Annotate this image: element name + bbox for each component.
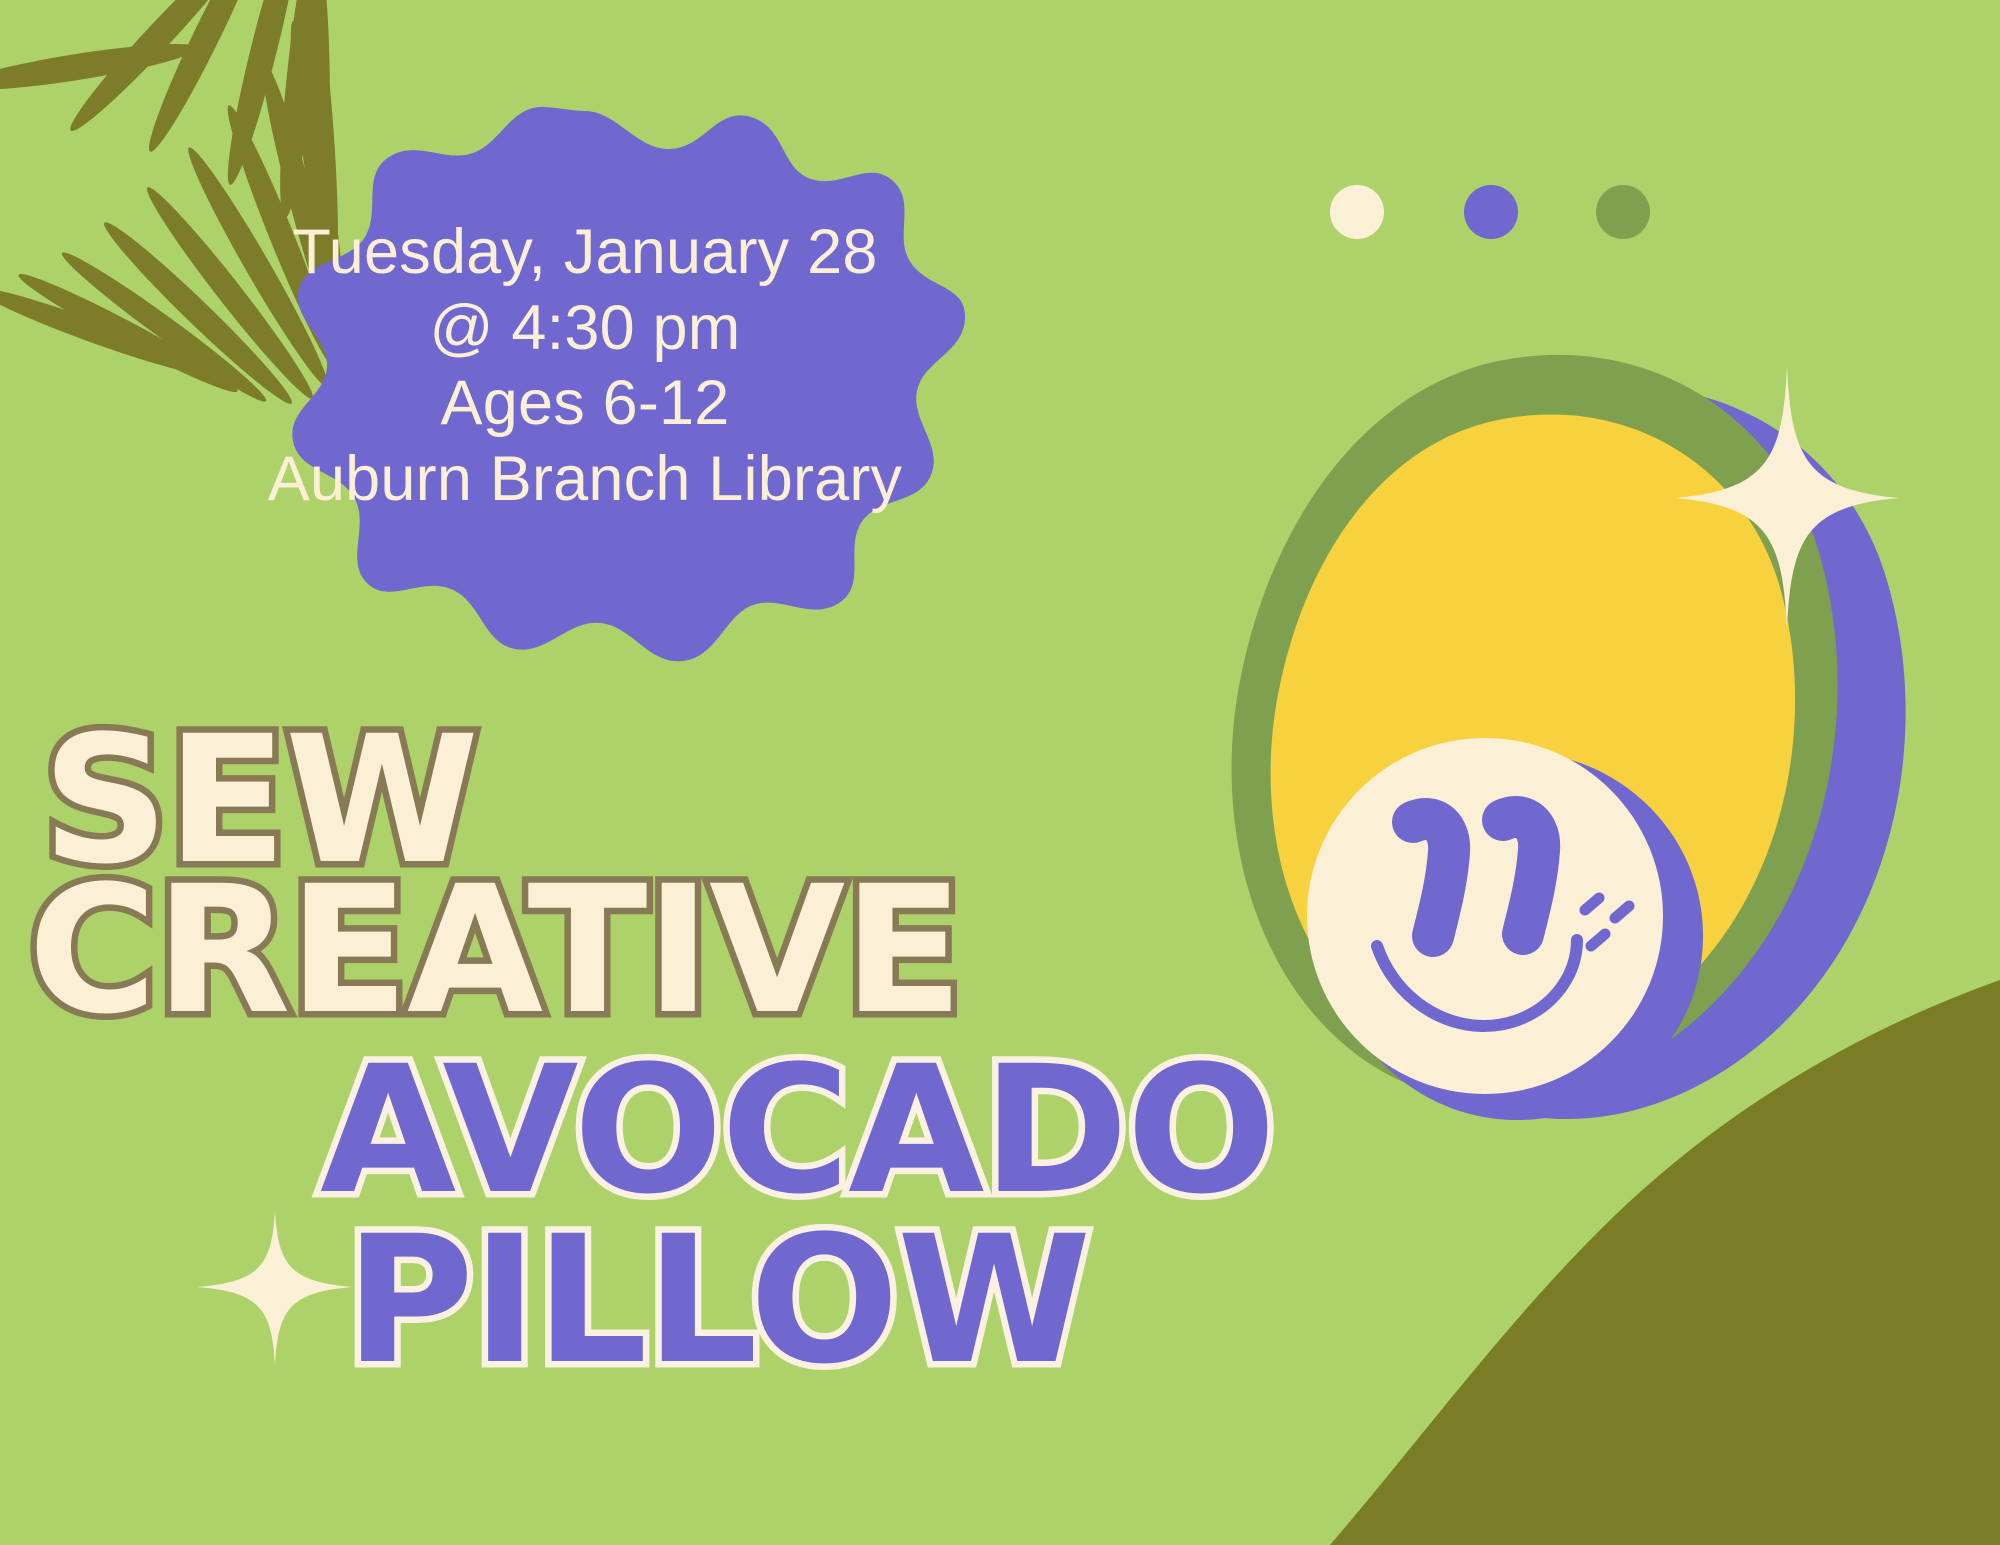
cream-dot xyxy=(1330,185,1384,239)
headline-line-creative: CREATIVE xyxy=(28,870,961,1032)
poster-canvas: Tuesday, January 28 @ 4:30 pm Ages 6-12 … xyxy=(0,0,2000,1545)
event-date: Tuesday, January 28 xyxy=(205,215,965,291)
event-details-text: Tuesday, January 28 @ 4:30 pm Ages 6-12 … xyxy=(205,215,965,517)
headline-line-pillow: PILLOW xyxy=(345,1220,1089,1382)
event-time: @ 4:30 pm xyxy=(205,291,965,367)
headline-line-avocado: AVOCADO xyxy=(320,1050,1274,1212)
decorative-dots-group xyxy=(1330,185,1660,245)
purple-dot xyxy=(1464,185,1518,239)
avocado-illustration xyxy=(1185,350,1945,1130)
event-location: Auburn Branch Library xyxy=(205,442,965,518)
avocado-pit xyxy=(1307,738,1663,1094)
green-dot xyxy=(1596,185,1650,239)
event-ages: Ages 6-12 xyxy=(205,366,965,442)
